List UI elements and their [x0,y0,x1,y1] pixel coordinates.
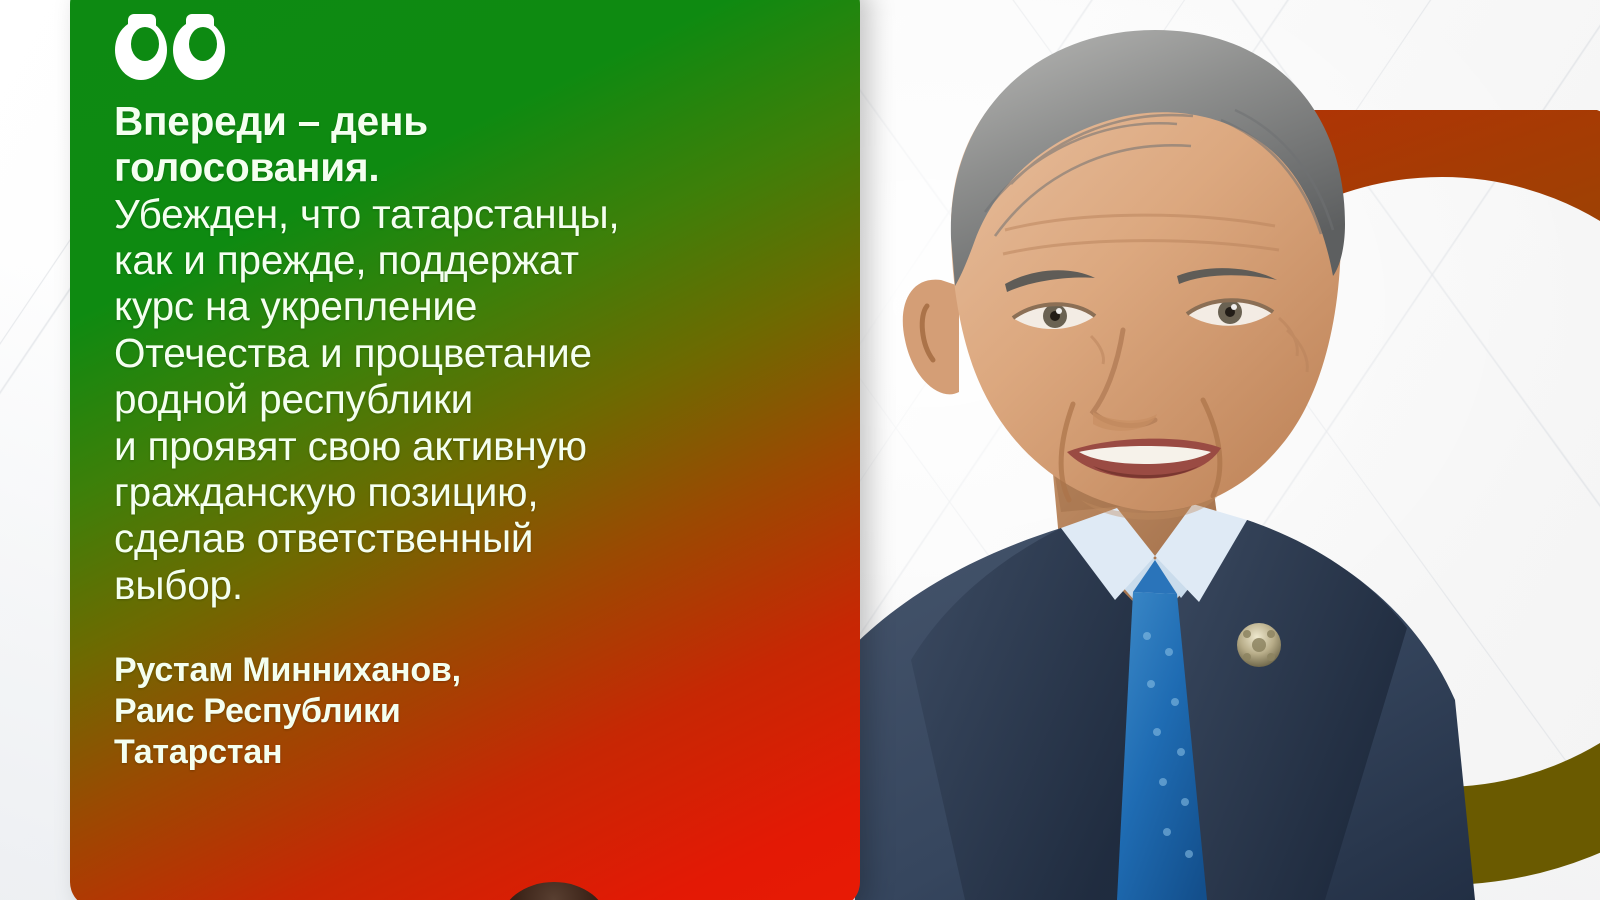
quote-line: выбор. [114,562,830,608]
attribution-title-line: Раис Республики [114,691,830,732]
attribution-block: Рустам Минниханов, Раис Республики Татар… [114,650,830,773]
emblem-peek-icon [500,882,608,900]
quote-lead-line: голосования. [114,144,830,190]
quote-lead-line: Впереди – день [114,98,830,144]
quote-line: курс на укрепление [114,283,830,329]
attribution-name: Рустам Минниханов, [114,650,830,691]
quote-line: и проявят свою активную [114,423,830,469]
quote-rest: Убежден, что татарстанцы, как и прежде, … [114,191,830,608]
quote-line: Отечества и процветание [114,330,830,376]
portrait-photo [855,0,1600,900]
quote-line: гражданскую позицию, [114,469,830,515]
open-quote-icon [114,14,830,80]
quote-text: Впереди – день голосования. Убежден, что… [114,98,830,608]
quote-line: Убежден, что татарстанцы, [114,191,830,237]
quote-line: родной республики [114,376,830,422]
quote-lead: Впереди – день голосования. [114,98,830,191]
attribution-title-line: Татарстан [114,732,830,773]
quote-card: Впереди – день голосования. Убежден, что… [70,0,860,900]
quote-card-poster: Впереди – день голосования. Убежден, что… [0,0,1600,900]
quote-line: сделав ответственный [114,515,830,561]
quote-line: как и прежде, поддержат [114,237,830,283]
